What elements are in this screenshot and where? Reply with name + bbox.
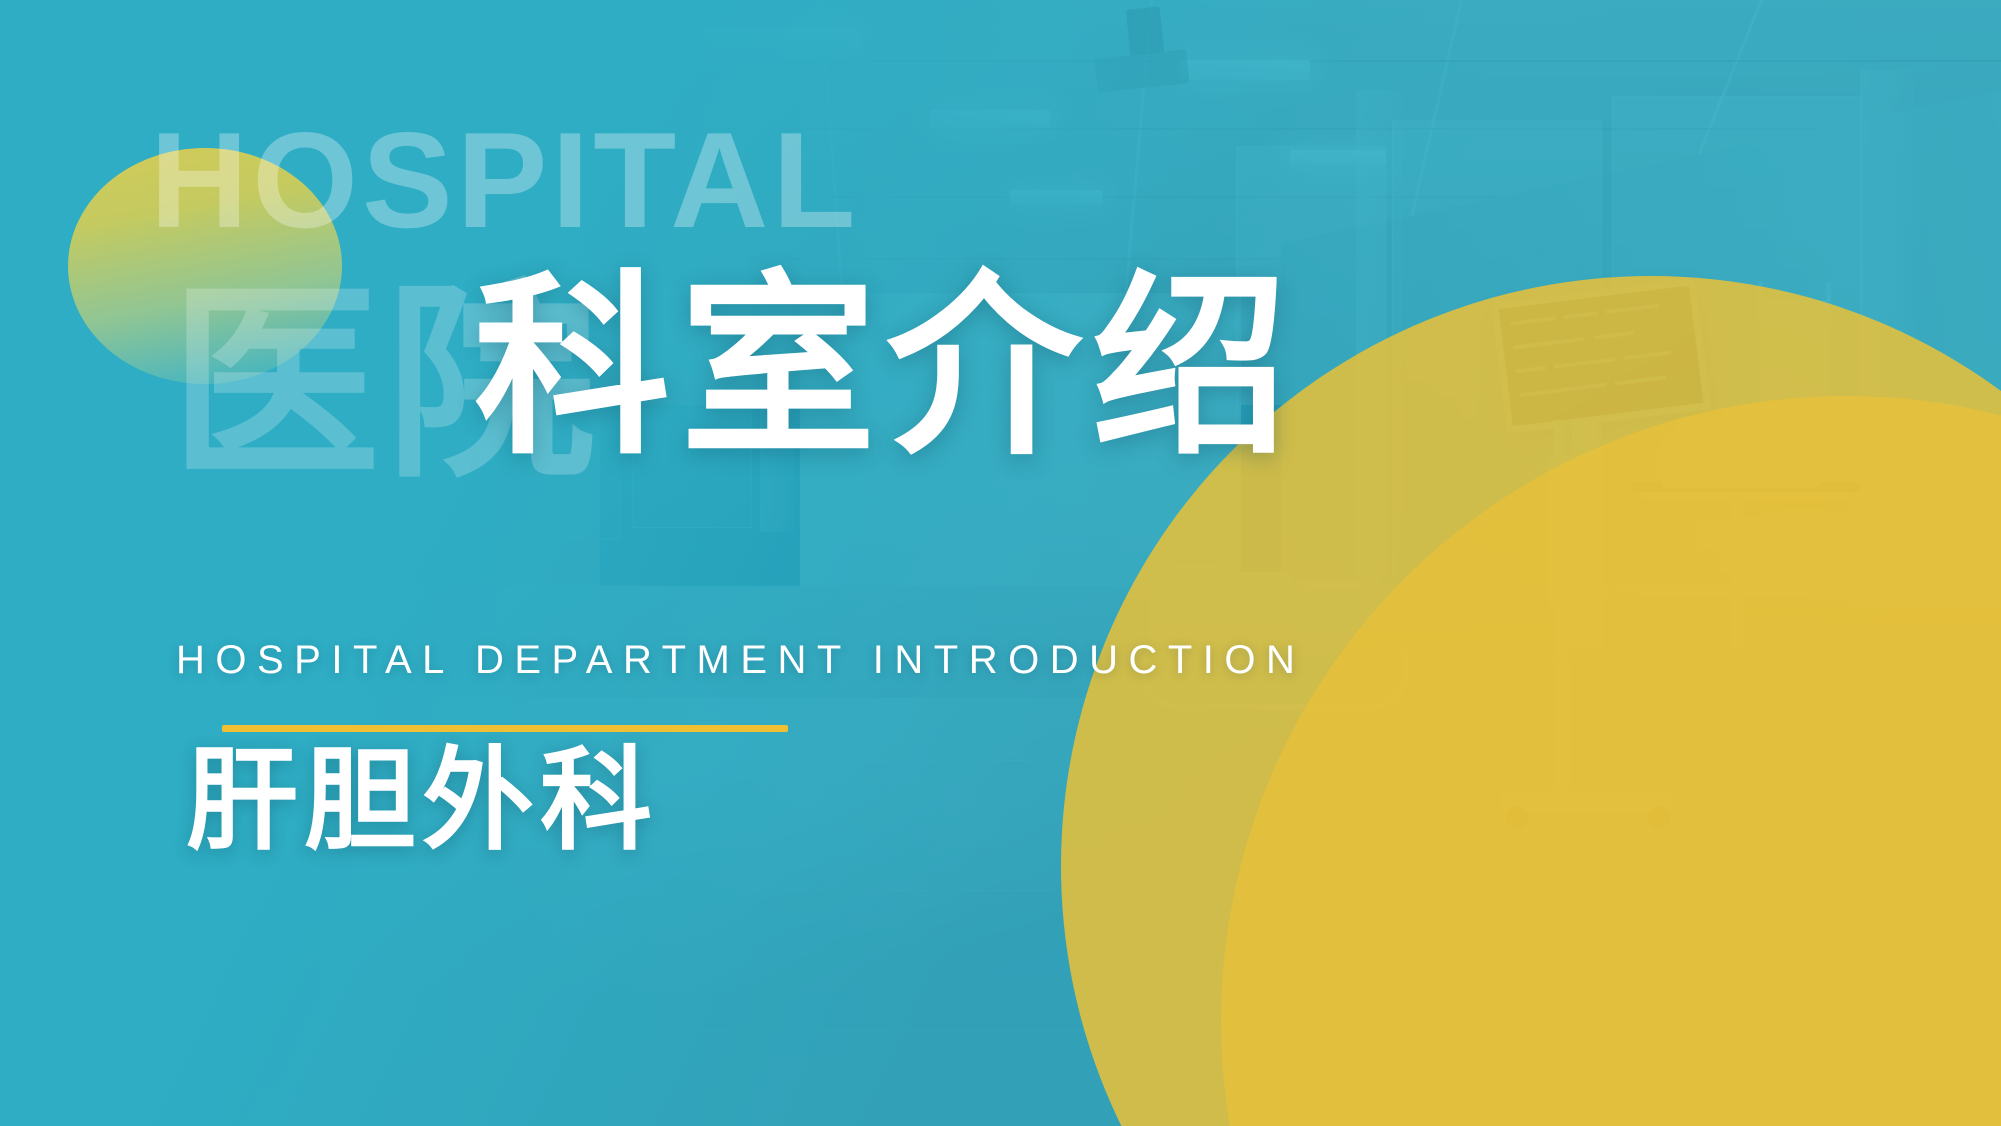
yellow-divider bbox=[222, 725, 788, 732]
page-subtitle: HOSPITAL DEPARTMENT INTRODUCTION bbox=[176, 638, 1305, 683]
page-title: 科室介绍 bbox=[474, 272, 1298, 468]
department-name: 肝胆外科 bbox=[186, 745, 658, 857]
text-stage: HOSPITAL 医院 科室介绍 HOSPITAL DEPARTMENT INT… bbox=[0, 0, 2001, 1126]
presentation-slide: HOSPITAL 医院 科室介绍 HOSPITAL DEPARTMENT INT… bbox=[0, 0, 2001, 1126]
watermark-hospital-text: HOSPITAL bbox=[150, 112, 859, 248]
